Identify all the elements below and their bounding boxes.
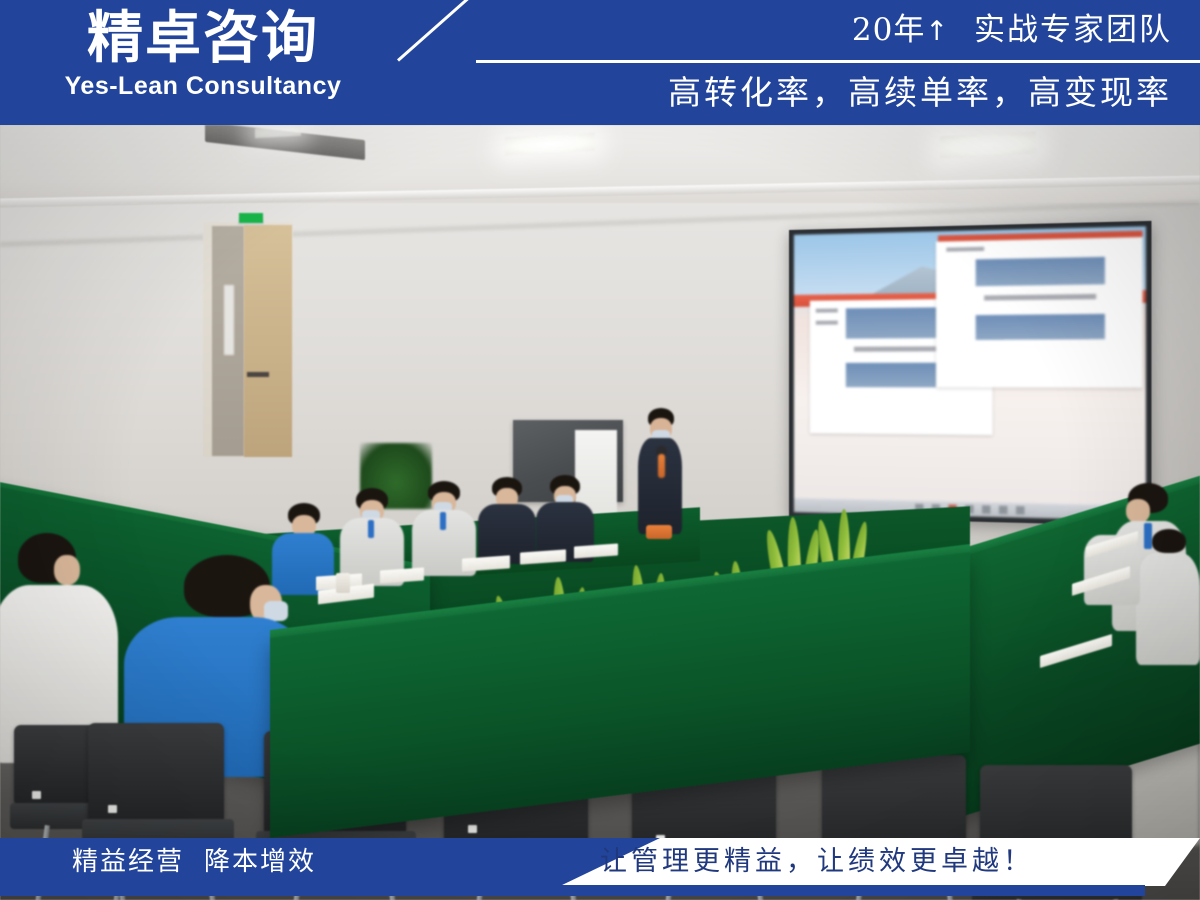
slide-text-line [946, 247, 984, 252]
slide-text-line [816, 308, 838, 312]
taskbar-icon [1016, 506, 1025, 515]
slide-block [976, 314, 1105, 340]
taskbar-icon [999, 506, 1008, 514]
photo-scene [0, 125, 1200, 900]
slide-text-line [816, 321, 838, 325]
header-tagline-top-text: 实战专家团队 [974, 12, 1172, 48]
footer-slogan-left-a: 精益经营 [72, 847, 184, 877]
participant-right-2 [1136, 529, 1200, 669]
projection-screen-content [794, 226, 1146, 520]
header-tagline-top: 20年↑实战专家团队 [412, 0, 1172, 62]
footer-bar: 精益经营降本增效 让管理更精益，让绩效更卓越！ [0, 838, 1200, 900]
slide-block [976, 257, 1105, 286]
header-bar: 精卓咨询 Yes-Lean Consultancy 20年↑实战专家团队 高转化… [0, 0, 1200, 125]
door-handle [247, 372, 269, 377]
brand-logo-cn: 精卓咨询 [38, 8, 368, 70]
exit-sign-icon [239, 213, 263, 223]
door-glass [224, 285, 234, 355]
projection-screen [789, 221, 1151, 526]
brand-logo-en: Yes-Lean Consultancy [38, 71, 368, 101]
presenter-item-orange [646, 525, 672, 539]
poster-root: 精卓咨询 Yes-Lean Consultancy 20年↑实战专家团队 高转化… [0, 0, 1200, 900]
participant-far-4 [478, 477, 540, 563]
header-tagline-years: 20年 [852, 12, 925, 48]
footer-slogan-right: 让管理更精益，让绩效更卓越！ [600, 838, 1034, 886]
footer-slogan-left: 精益经营降本增效 [72, 838, 316, 886]
footer-bottom-strip [0, 885, 1145, 896]
brand-logo: 精卓咨询 Yes-Lean Consultancy [38, 8, 368, 116]
up-arrow-icon: ↑ [925, 16, 950, 47]
header-tagline-bottom: 高转化率，高续单率，高变现率 [412, 62, 1172, 124]
taskbar-icon [982, 505, 990, 513]
footer-slogan-left-b: 降本增效 [204, 847, 316, 877]
training-photo [0, 125, 1200, 900]
header-tagline-group: 20年↑实战专家团队 高转化率，高续单率，高变现率 [412, 0, 1172, 125]
wooden-door [244, 225, 292, 457]
cup [336, 573, 350, 593]
